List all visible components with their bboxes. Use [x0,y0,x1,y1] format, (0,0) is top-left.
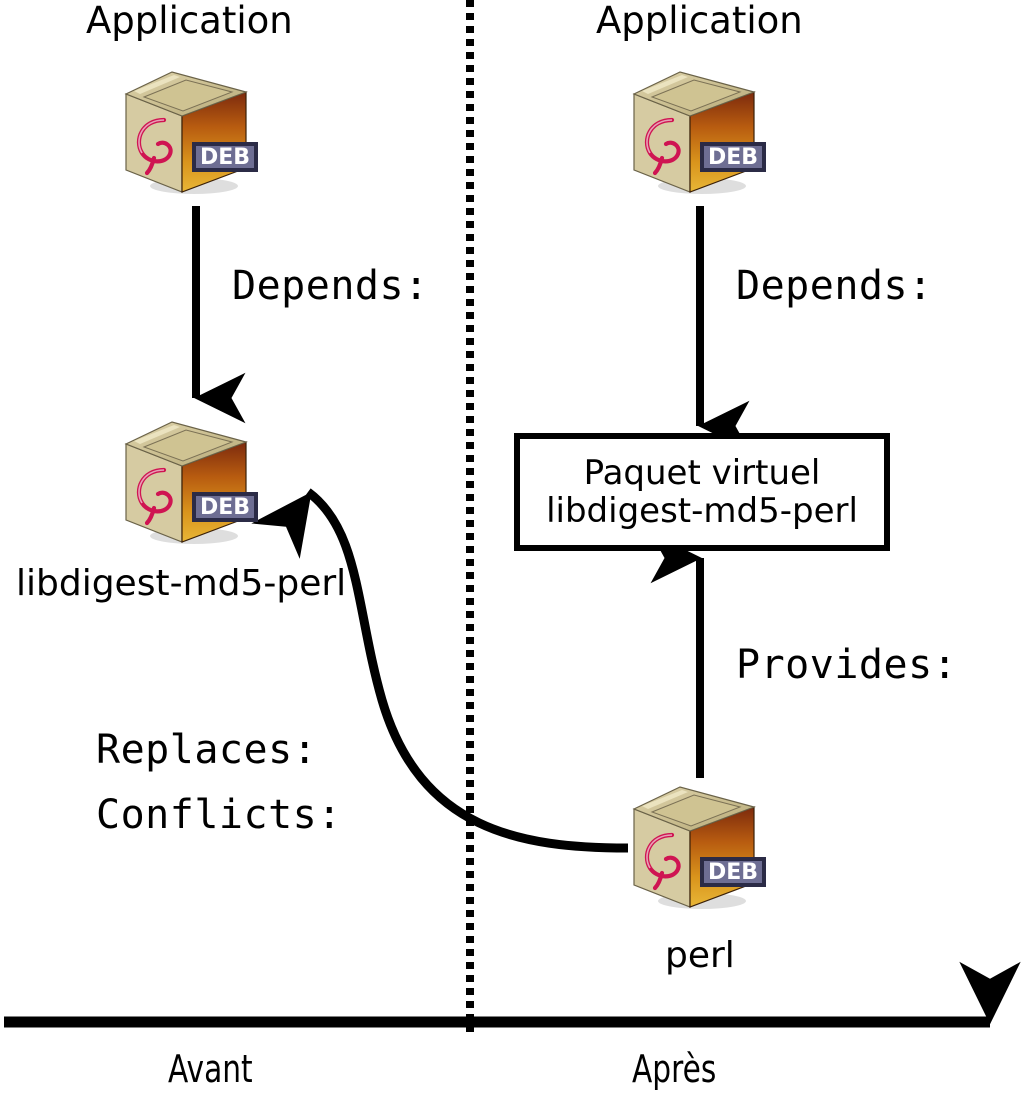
debian-package-box-icon: DEB [628,58,776,198]
application-title-before: Application [86,2,293,39]
relation-depends-before: Depends: [232,266,429,306]
timeline-label-avant: Avant [168,1050,253,1088]
svg-text:DEB: DEB [708,145,758,170]
deb-badge: DEB [192,492,258,522]
svg-text:DEB: DEB [708,860,758,885]
package-label-libdigest-md5-perl: libdigest-md5-perl [16,566,346,602]
deb-badge: DEB [192,142,258,172]
deb-badge: DEB [700,142,766,172]
diagram-canvas: DEB [0,0,1024,1094]
relation-conflicts: Conflicts: [96,795,342,835]
deb-badge: DEB [700,857,766,887]
virtual-package-name: libdigest-md5-perl [546,492,858,530]
relation-replaces: Replaces: [96,730,317,770]
debian-package-box-icon: DEB [120,408,268,548]
debian-package-box-icon: DEB [628,773,776,913]
virtual-package-title: Paquet virtuel [584,454,821,492]
svg-text:DEB: DEB [200,145,250,170]
application-title-after: Application [596,2,803,39]
relation-provides: Provides: [736,645,957,685]
timeline-label-apres: Après [632,1050,716,1088]
package-label-perl: perl [665,938,735,974]
svg-text:DEB: DEB [200,495,250,520]
debian-package-box-icon: DEB [120,58,268,198]
relation-depends-after: Depends: [736,266,933,306]
virtual-package-box: Paquet virtuel libdigest-md5-perl [514,433,890,551]
